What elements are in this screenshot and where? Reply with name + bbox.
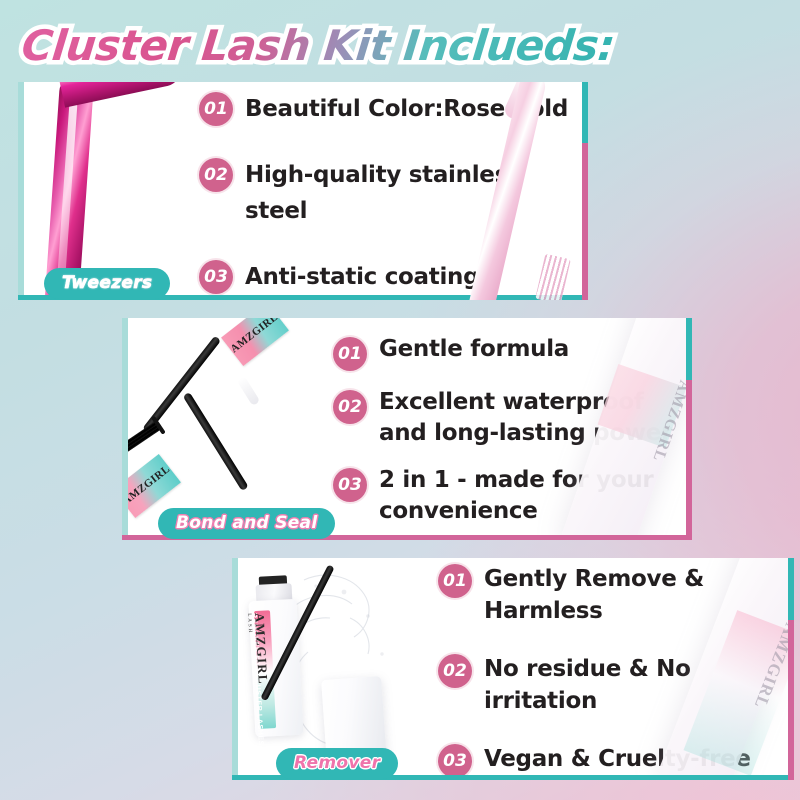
feature-list-tweezers: 01 Beautiful Color:Rose gold 02 High-qua… xyxy=(193,82,588,300)
panel-border-right xyxy=(582,82,588,300)
product-label-bond-and-seal: Bond and Seal xyxy=(158,508,335,539)
wand-tip-lower xyxy=(237,376,261,406)
panel-border-left xyxy=(232,558,238,780)
feature-item: 01 Gently Remove & Harmless xyxy=(438,563,780,627)
panel-border-right xyxy=(788,558,794,780)
panel-bond-and-seal: AMZGIRL AMZGIRL 01 G xyxy=(122,318,692,540)
panel-remover: REMOVER FOR CLUSTER LASHES AMZGIRL LASH … xyxy=(232,558,794,780)
feature-number-badge: 01 xyxy=(438,564,472,598)
panel-border-left xyxy=(122,318,128,540)
feature-item: 01 Gentle formula xyxy=(333,334,678,371)
feature-list-remover: 01 Gently Remove & Harmless 02 No residu… xyxy=(432,558,794,780)
feature-item: 03 Anti-static coating xyxy=(199,259,574,295)
feature-text: No residue & No irritation xyxy=(484,653,780,717)
feature-item: 03 2 in 1 - made for your convenience xyxy=(333,465,678,527)
feature-text: Gentle formula xyxy=(379,334,569,365)
feature-text: Excellent waterproof and long-lasting po… xyxy=(379,387,678,449)
feature-item: 02 High-quality stainless steel xyxy=(199,157,574,229)
panel-border-right xyxy=(686,318,692,540)
feature-number-badge: 01 xyxy=(333,337,367,371)
tweezer-tip-dark xyxy=(59,82,183,108)
feature-number-badge: 03 xyxy=(438,744,472,778)
product-label-text: Remover xyxy=(294,753,380,773)
feature-number-badge: 02 xyxy=(438,654,472,688)
feature-number-badge: 03 xyxy=(333,468,367,502)
feature-text: Gently Remove & Harmless xyxy=(484,563,780,627)
wand-lower: AMZGIRL xyxy=(122,318,327,540)
feature-item: 02 No residue & No irritation xyxy=(438,653,780,717)
feature-number-badge: 03 xyxy=(199,260,233,294)
cap-brand: AMZGIRL xyxy=(122,464,173,508)
feature-list-bond-and-seal: 01 Gentle formula 02 Excellent waterproo… xyxy=(327,318,692,540)
product-image-bond-and-seal: AMZGIRL AMZGIRL xyxy=(122,318,327,540)
feature-text: Anti-static coating xyxy=(245,259,479,295)
feature-number-badge: 01 xyxy=(199,92,233,126)
page-title-fill: Cluster Lash Kit Inclueds: xyxy=(19,18,617,74)
product-label-tweezers: Tweezers xyxy=(44,268,170,299)
feature-item: 01 Beautiful Color:Rose gold xyxy=(199,91,574,127)
panel-border-left xyxy=(18,82,24,300)
feature-text: Beautiful Color:Rose gold xyxy=(245,91,568,127)
product-label-text: Tweezers xyxy=(62,273,152,293)
feature-text: 2 in 1 - made for your convenience xyxy=(379,465,678,527)
infographic-canvas: Cluster Lash Kit Inclueds: Cluster Lash … xyxy=(0,0,800,800)
feature-number-badge: 02 xyxy=(199,158,233,192)
feature-item: 02 Excellent waterproof and long-lasting… xyxy=(333,387,678,449)
feature-text: Vegan & Cruelty-free xyxy=(484,743,751,775)
product-label-remover: Remover xyxy=(276,748,398,779)
wand-stick-lower-main xyxy=(183,392,249,491)
product-label-text: Bond and Seal xyxy=(176,513,317,533)
product-image-remover: REMOVER FOR CLUSTER LASHES AMZGIRL LASH xyxy=(232,558,432,780)
feature-text: High-quality stainless steel xyxy=(245,157,574,229)
feature-item: 03 Vegan & Cruelty-free xyxy=(438,743,780,778)
feature-number-badge: 02 xyxy=(333,390,367,424)
